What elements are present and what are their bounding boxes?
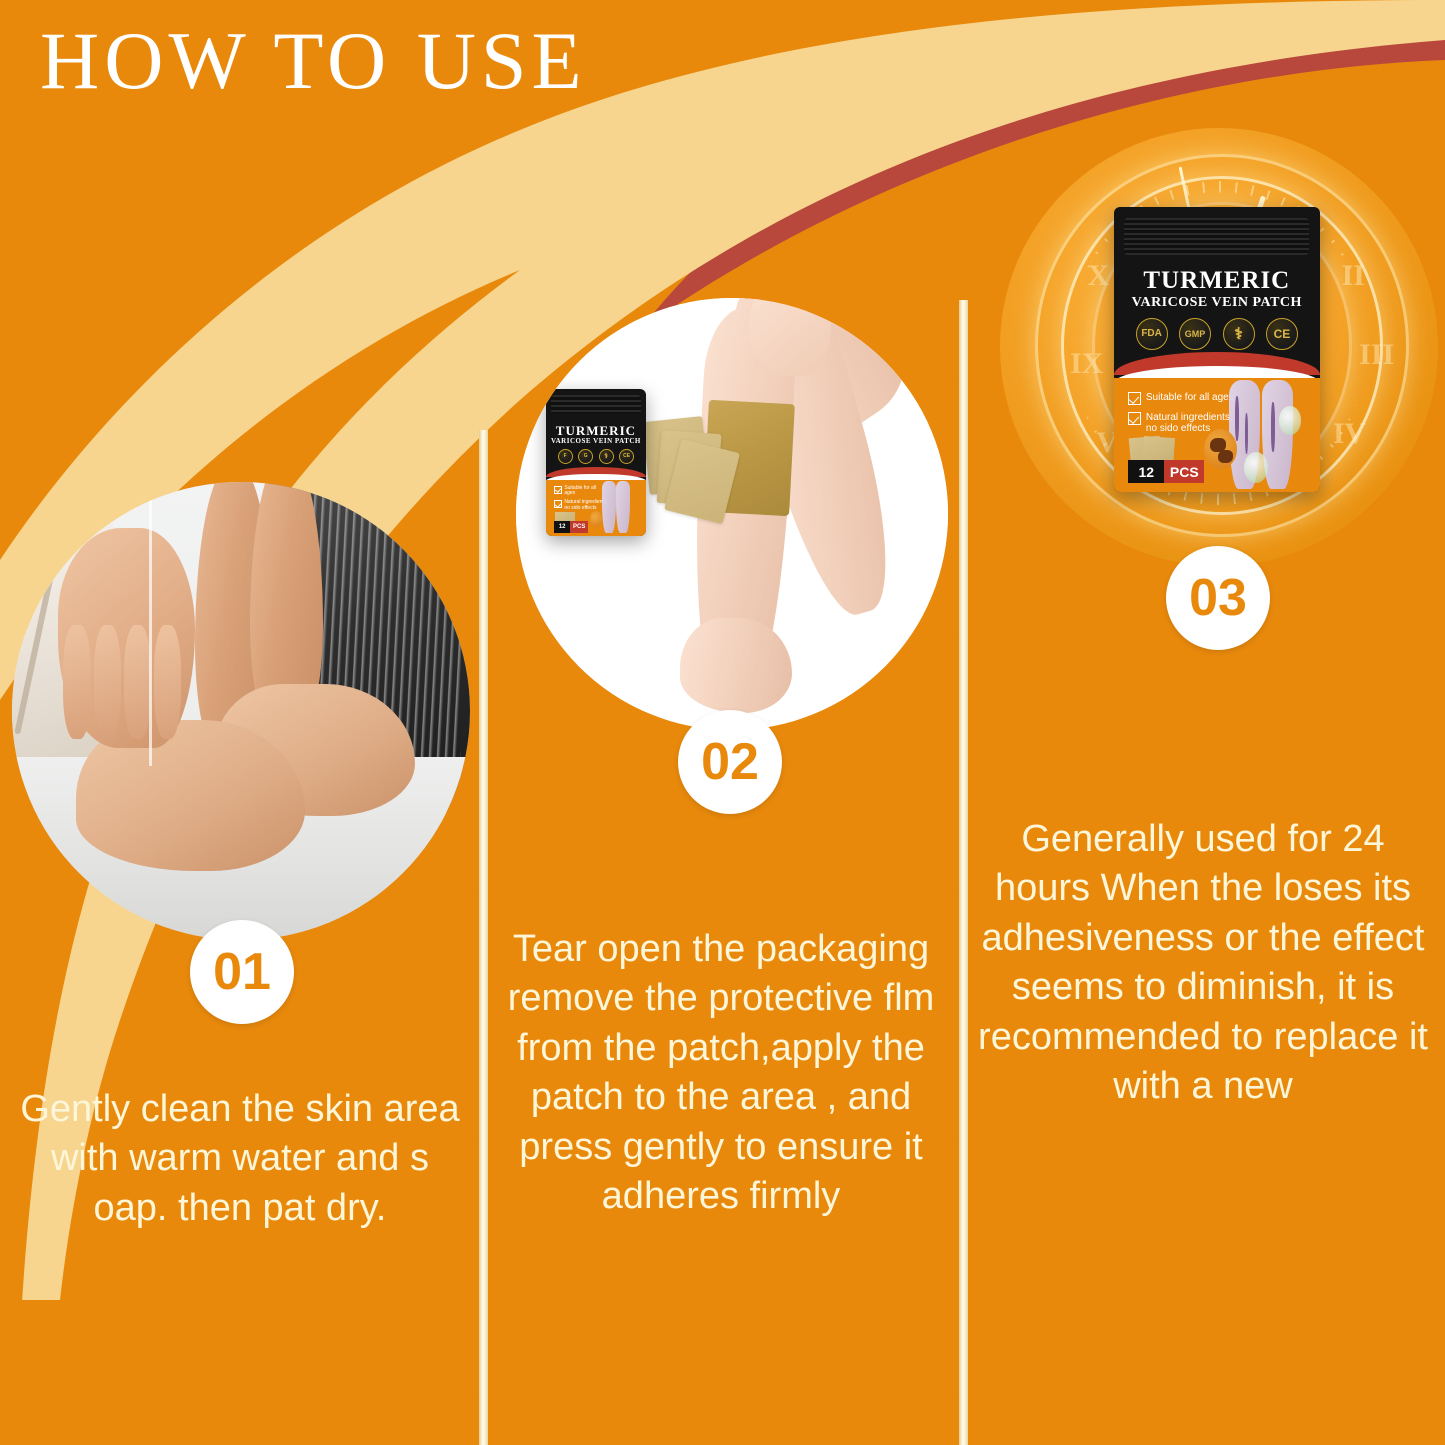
step-1-photo bbox=[12, 482, 470, 940]
shower-scene bbox=[12, 482, 470, 940]
vein-line bbox=[1235, 396, 1239, 441]
quantity-number: 12 bbox=[1128, 460, 1164, 483]
caduceus-badge-icon: ⚕ bbox=[599, 449, 614, 464]
package-zipper bbox=[551, 395, 640, 414]
roman-numeral-iv: IV bbox=[1333, 417, 1366, 451]
roman-numeral-x: X bbox=[1088, 259, 1110, 293]
fda-badge-icon: FDA bbox=[1136, 318, 1168, 350]
feature-item: Suitable for all ages bbox=[554, 486, 608, 498]
panel-divider-1 bbox=[479, 430, 488, 1445]
feature-item: Suitable for all ages bbox=[1128, 392, 1243, 405]
roman-numeral-ii: II bbox=[1342, 259, 1365, 293]
finger bbox=[94, 625, 121, 739]
step-2-photo: TURMERIC VARICOSE VEIN PATCH F G ⚕ CE Su… bbox=[516, 298, 948, 730]
roman-numeral-iii: III bbox=[1359, 338, 1394, 372]
step-badge-03: 03 bbox=[1166, 546, 1270, 650]
step-badge-02: 02 bbox=[678, 710, 782, 814]
package-subtitle: VARICOSE VEIN PATCH bbox=[1114, 295, 1320, 311]
finger bbox=[63, 625, 90, 739]
ce-badge-icon: CE bbox=[1266, 318, 1298, 350]
checkbox-icon bbox=[554, 486, 562, 494]
water-streak bbox=[149, 482, 152, 766]
package-brand: TURMERIC bbox=[1114, 267, 1320, 295]
turmeric-root-icon bbox=[1204, 429, 1237, 469]
quantity-badge: 12 PCS bbox=[1128, 460, 1204, 483]
finger bbox=[124, 625, 151, 739]
vein-line bbox=[1271, 402, 1275, 452]
feature-item: Natural ingredients, no sido effects bbox=[554, 500, 608, 512]
ce-badge-icon: CE bbox=[619, 449, 634, 464]
hand-touching-ankle bbox=[58, 528, 195, 748]
feature-list-small: Suitable for all ages Natural ingredient… bbox=[554, 486, 608, 515]
clock-background-scene: II III IV X IX VIII TURMERIC VARICOSE VE… bbox=[1000, 128, 1438, 566]
finger bbox=[154, 625, 181, 739]
turmeric-piece bbox=[1218, 450, 1232, 464]
leaf-icon bbox=[1244, 452, 1269, 483]
product-package-large: TURMERIC VARICOSE VEIN PATCH FDA GMP ⚕ C… bbox=[1114, 207, 1320, 492]
gmp-badge-icon: G bbox=[578, 449, 593, 464]
checkbox-icon bbox=[554, 500, 562, 508]
package-subtitle-small: VARICOSE VEIN PATCH bbox=[546, 437, 645, 445]
vein-leg-graphic bbox=[616, 481, 630, 532]
hand-on-knee bbox=[749, 298, 831, 376]
package-brand-small: TURMERIC bbox=[546, 423, 645, 439]
fda-badge-icon: F bbox=[558, 449, 573, 464]
quantity-badge-small: 12 PCS bbox=[554, 521, 588, 533]
certification-badges: FDA GMP ⚕ CE bbox=[1114, 318, 1320, 350]
product-package-small: TURMERIC VARICOSE VEIN PATCH F G ⚕ CE Su… bbox=[546, 389, 645, 536]
step-badge-01: 01 bbox=[190, 920, 294, 1024]
step-3-caption: Generally used for 24 hours When the los… bbox=[972, 815, 1434, 1111]
package-zipper bbox=[1124, 218, 1309, 255]
herb-icon bbox=[1279, 406, 1302, 434]
turmeric-root-icon bbox=[590, 511, 602, 527]
quantity-number: 12 bbox=[554, 521, 570, 533]
foot bbox=[680, 618, 792, 713]
quantity-label: PCS bbox=[570, 521, 588, 533]
checkbox-icon bbox=[1128, 412, 1141, 425]
infographic-canvas: HOW TO USE bbox=[0, 0, 1445, 1445]
gmp-badge-icon: GMP bbox=[1179, 318, 1211, 350]
step-1-caption: Gently clean the skin area with warm wat… bbox=[10, 1085, 470, 1233]
step-2-caption: Tear open the packaging remove the prote… bbox=[492, 925, 950, 1221]
vein-line bbox=[1245, 413, 1248, 454]
roman-numeral-ix: IX bbox=[1070, 347, 1103, 381]
legs-scene: TURMERIC VARICOSE VEIN PATCH F G ⚕ CE Su… bbox=[516, 298, 948, 730]
vein-leg-graphic bbox=[602, 481, 616, 532]
caduceus-badge-icon: ⚕ bbox=[1223, 318, 1255, 350]
panel-divider-2 bbox=[959, 300, 968, 1445]
feature-text: Suitable for all ages bbox=[1146, 392, 1234, 404]
certification-badges-small: F G ⚕ CE bbox=[546, 449, 645, 464]
quantity-label: PCS bbox=[1164, 460, 1204, 483]
step-3-photo: II III IV X IX VIII TURMERIC VARICOSE VE… bbox=[1000, 128, 1438, 566]
page-title: HOW TO USE bbox=[40, 18, 587, 104]
checkbox-icon bbox=[1128, 392, 1141, 405]
